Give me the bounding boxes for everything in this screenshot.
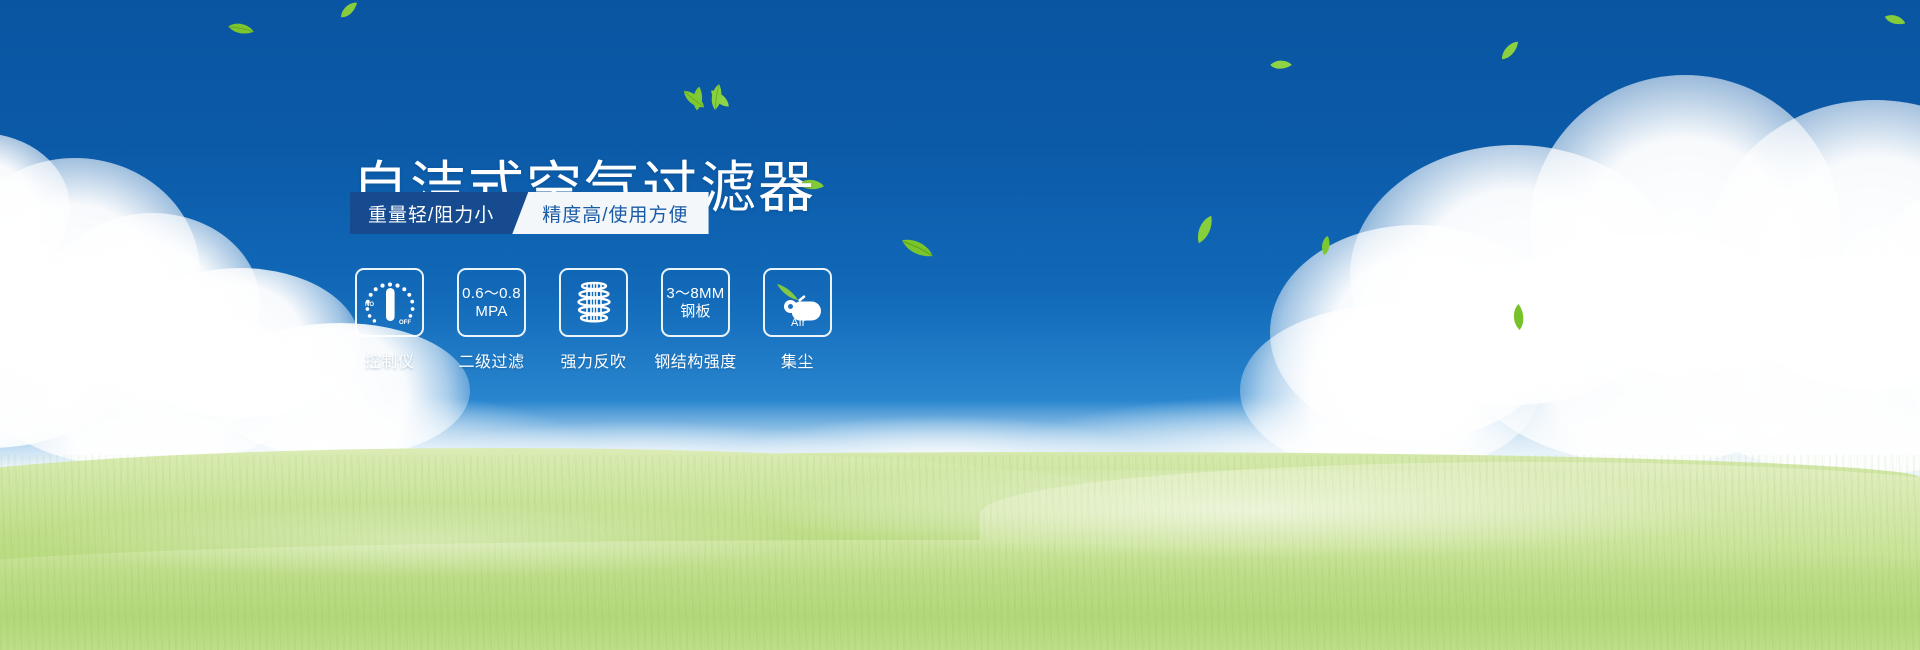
feature-item: 3～8MM 钢板 钢结构强度: [658, 268, 733, 372]
feature-item: Air 集尘: [760, 268, 835, 372]
badge-primary: 重量轻/阻力小: [350, 192, 528, 234]
steel-thickness: 3～8MM: [666, 285, 724, 303]
filter-cartridge-icon: [559, 268, 628, 337]
feature-label: 强力反吹: [560, 348, 626, 372]
air-cloud-icon: Air: [763, 268, 832, 337]
feature-label: 控制仪: [365, 348, 415, 372]
feature-label: 钢结构强度: [654, 348, 737, 372]
pressure-value: 0.6～0.8: [462, 285, 521, 303]
title-leaf-icon: [704, 82, 730, 111]
svg-text:NO: NO: [365, 302, 374, 308]
svg-text:OFF: OFF: [399, 320, 411, 326]
feature-item: 0.6～0.8 MPA 二级过滤: [454, 268, 529, 372]
feature-item: NO OFF 控制仪: [352, 268, 427, 372]
feature-label: 集尘: [781, 348, 814, 372]
banner-content: 自洁式空气过滤器 重量轻/阻力小 精度高/使用方便: [0, 0, 1920, 650]
steel-material: 钢板: [680, 303, 711, 321]
badge-group: 重量轻/阻力小 精度高/使用方便: [350, 192, 709, 234]
pressure-text-icon: 0.6～0.8 MPA: [457, 268, 526, 337]
steel-plate-text-icon: 3～8MM 钢板: [661, 268, 730, 337]
air-label: Air: [791, 317, 806, 328]
pressure-unit: MPA: [475, 303, 507, 321]
hero-banner: 自洁式空气过滤器 重量轻/阻力小 精度高/使用方便: [0, 0, 1920, 650]
badge-secondary: 精度高/使用方便: [512, 192, 708, 234]
feature-list: NO OFF 控制仪 0.6～0.8 MPA 二级过滤: [352, 268, 835, 372]
control-dial-icon: NO OFF: [355, 268, 424, 337]
feature-item: 强力反吹: [556, 268, 631, 372]
title-leaf-icon: [682, 84, 707, 114]
feature-label: 二级过滤: [458, 348, 524, 372]
